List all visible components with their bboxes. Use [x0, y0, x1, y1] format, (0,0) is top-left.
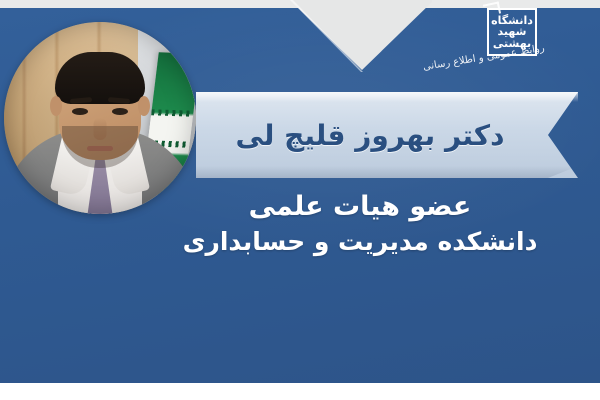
bottom-edge-strip — [0, 383, 600, 400]
role-line-2: دانشکده مدیریت و حسابداری — [150, 226, 570, 258]
page-title: دکتر بهروز قلیچ لی — [196, 92, 544, 178]
role-block: عضو هیات علمی دانشکده مدیریت و حسابداری — [150, 190, 570, 258]
logo-line-2: شهید — [491, 26, 533, 37]
logo-wordmark: دانشگاه شهید بهشتی — [491, 15, 533, 49]
role-line-1: عضو هیات علمی — [150, 190, 570, 224]
portrait-vignette — [4, 22, 196, 214]
avatar — [4, 22, 196, 214]
profile-banner-canvas: دکتر بهروز قلیچ لی عضو هیات علمی دانشکده… — [0, 0, 600, 400]
